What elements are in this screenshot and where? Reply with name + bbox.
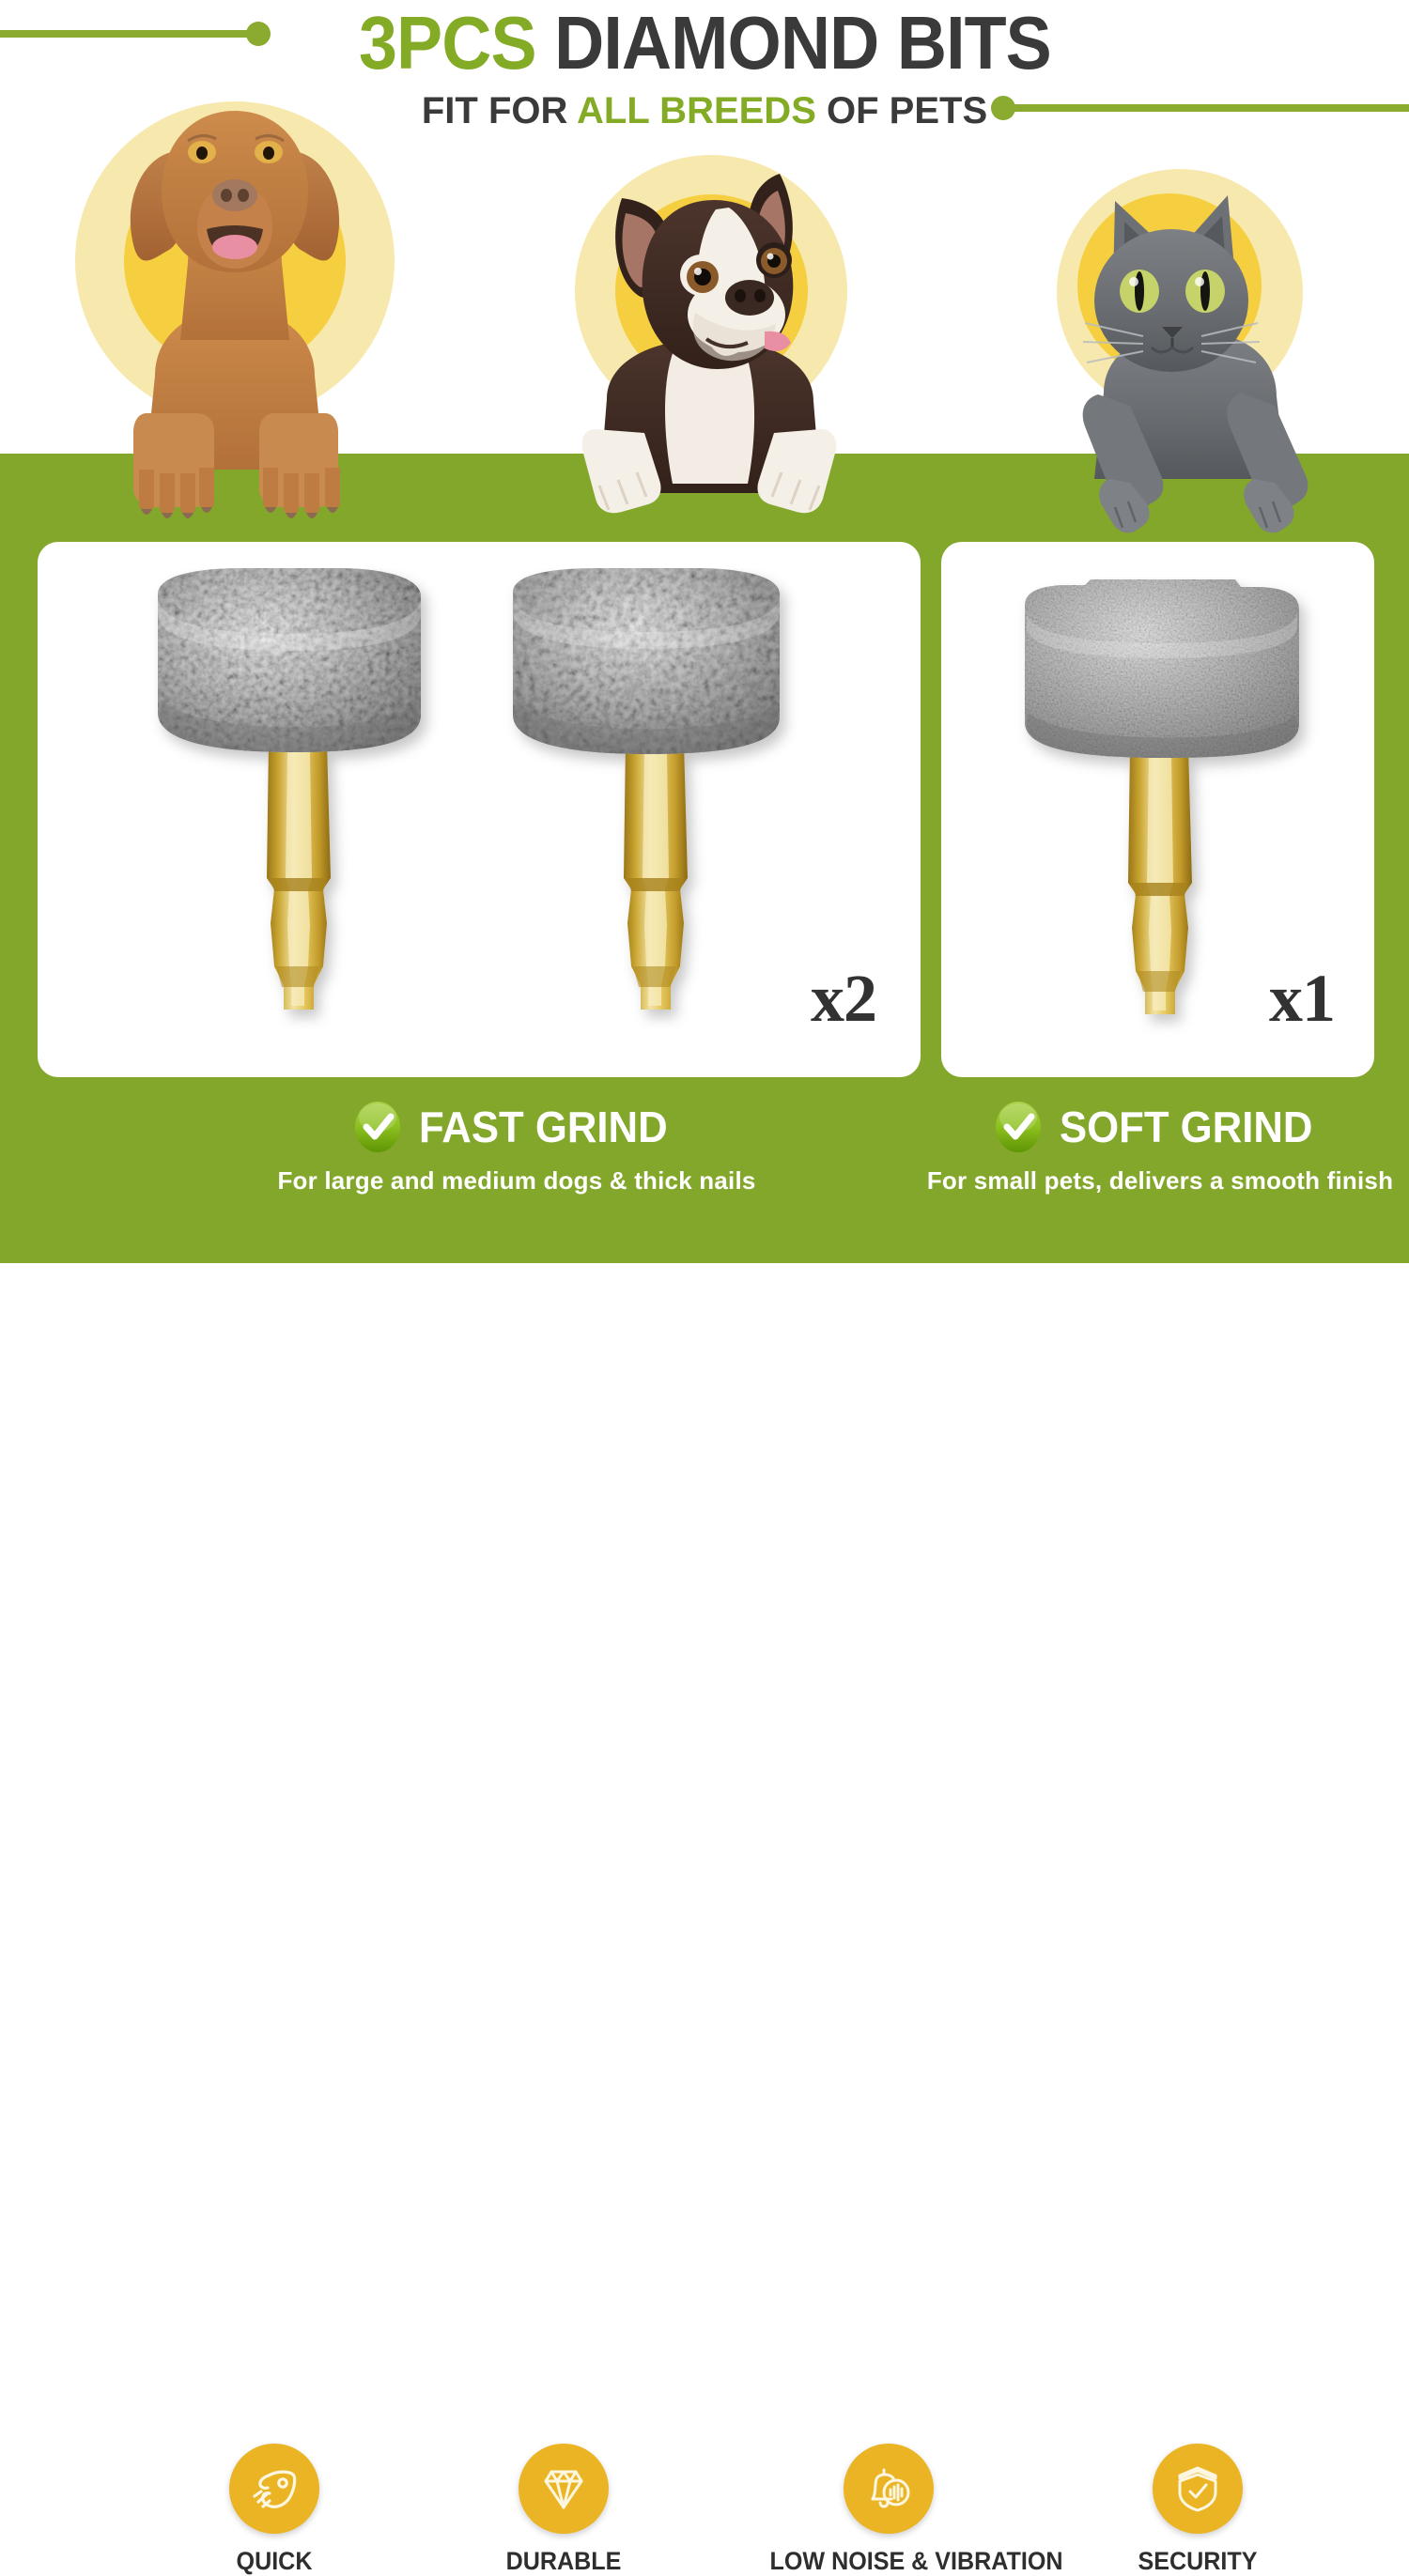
feature-low-noise: LOW NOISE & VIBRATION (761, 2444, 1016, 2576)
soft-grind-block: SOFT GRIND For small pets, delivers a sm… (925, 1101, 1395, 1195)
feature-label: DURABLE (458, 2547, 668, 2576)
fast-grind-block: FAST GRIND For large and medium dogs & t… (169, 1101, 864, 1195)
bell-soundwave-icon (861, 2461, 916, 2516)
pets-strip (0, 94, 1409, 526)
feature-label: LOW NOISE & VIBRATION (770, 2547, 1008, 2576)
feature-label: QUICK (169, 2547, 379, 2576)
quantity-badge-right: x1 (1269, 960, 1335, 1038)
diamond-bit-illustration (496, 568, 815, 1061)
feature-quick: QUICK (162, 2444, 387, 2576)
feature-circle (519, 2444, 609, 2534)
check-icon (353, 1101, 402, 1153)
fast-grind-description: For large and medium dogs & thick nails (169, 1166, 864, 1195)
quantity-badge-left: x2 (811, 960, 876, 1038)
check-icon (994, 1101, 1043, 1153)
feature-security: SECURITY (1094, 2444, 1301, 2576)
feature-circle (229, 2444, 319, 2534)
page-title: 3PCS DIAMOND BITS (0, 0, 1409, 86)
soft-grind-description: For small pets, delivers a smooth finish (925, 1166, 1395, 1195)
diamond-icon (537, 2462, 590, 2515)
diamond-bit-illustration (139, 568, 458, 1061)
vizsla-dog-illustration (56, 94, 432, 526)
diamond-bit-coarse-2 (496, 568, 815, 1061)
feature-circle (1153, 2444, 1243, 2534)
boston-terrier-illustration (564, 155, 892, 531)
shield-check-icon (1171, 2462, 1224, 2515)
grey-cat-illustration (1057, 169, 1376, 535)
title-product: DIAMOND BITS (535, 1, 1050, 85)
diamond-bit-coarse-1 (139, 568, 458, 1061)
fast-grind-title: FAST GRIND (419, 1105, 668, 1149)
feature-label: SECURITY (1102, 2547, 1294, 2576)
pet-grey-cat (1057, 169, 1376, 535)
feature-row: QUICK DURABLE (0, 1221, 1409, 1346)
pet-boston-terrier (564, 155, 892, 531)
feature-circle (844, 2444, 934, 2534)
pet-vizsla-dog (56, 94, 432, 526)
rocket-icon (248, 2462, 301, 2515)
title-count: 3PCS (359, 1, 536, 85)
feature-durable: DURABLE (451, 2444, 676, 2576)
soft-grind-title: SOFT GRIND (1060, 1105, 1312, 1149)
